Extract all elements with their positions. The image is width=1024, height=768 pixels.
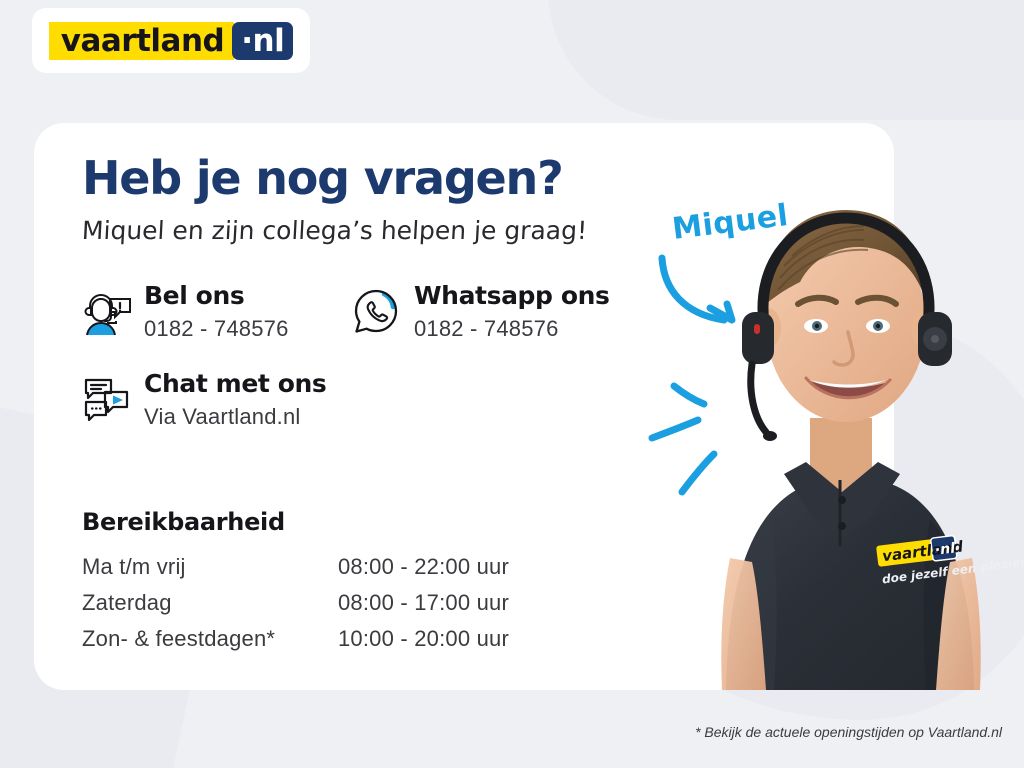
page-subtitle: Miquel en zijn collega’s helpen je graag…	[81, 216, 588, 245]
poster-canvas: vaartland ·nl Heb je nog vragen? Miquel …	[0, 0, 1024, 768]
hours-day: Zon- & feestdagen*	[82, 621, 338, 657]
contact-text-chat: Chat met ons Via Vaartland.nl	[144, 371, 326, 430]
contact-block-call[interactable]: Bel ons 0182 - 748576	[80, 283, 289, 342]
contact-title-chat: Chat met ons	[144, 371, 326, 397]
hours-day: Zaterdag	[82, 585, 338, 621]
footnote-text: * Bekijk de actuele openingstijden op Va…	[695, 724, 1002, 740]
chat-bubbles-icon	[80, 373, 132, 425]
contact-title-whatsapp: Whatsapp ons	[414, 283, 610, 309]
table-row: Ma t/m vrij 08:00 - 22:00 uur	[82, 549, 509, 585]
hours-day: Ma t/m vrij	[82, 549, 338, 585]
table-row: Zon- & feestdagen* 10:00 - 20:00 uur	[82, 621, 509, 657]
headset-person-icon	[80, 285, 132, 337]
contact-block-chat[interactable]: Chat met ons Via Vaartland.nl	[80, 371, 326, 430]
contact-text-whatsapp: Whatsapp ons 0182 - 748576	[414, 283, 610, 342]
svg-text:·nl: ·nl	[934, 540, 956, 558]
contact-block-whatsapp[interactable]: Whatsapp ons 0182 - 748576	[350, 283, 610, 342]
hours-time: 08:00 - 17:00 uur	[338, 585, 509, 621]
whatsapp-icon	[350, 285, 402, 337]
hours-time: 10:00 - 20:00 uur	[338, 621, 509, 657]
contact-detail-chat: Via Vaartland.nl	[144, 404, 326, 430]
page-title: Heb je nog vragen?	[82, 151, 563, 205]
brand-logo-tld: ·nl	[232, 22, 293, 60]
contact-detail-whatsapp: 0182 - 748576	[414, 316, 610, 342]
availability-table: Ma t/m vrij 08:00 - 22:00 uur Zaterdag 0…	[82, 549, 509, 657]
contact-text-call: Bel ons 0182 - 748576	[144, 283, 289, 342]
background-shape-top-right	[548, 0, 1024, 120]
brand-logo-inner: vaartland ·nl	[49, 22, 293, 60]
brand-logo-word: vaartland	[49, 22, 234, 60]
contact-title-call: Bel ons	[144, 283, 289, 309]
hours-time: 08:00 - 22:00 uur	[338, 549, 509, 585]
table-row: Zaterdag 08:00 - 17:00 uur	[82, 585, 509, 621]
brand-logo[interactable]: vaartland ·nl	[32, 8, 310, 73]
availability-heading: Bereikbaarheid	[82, 508, 285, 536]
contact-detail-call: 0182 - 748576	[144, 316, 289, 342]
